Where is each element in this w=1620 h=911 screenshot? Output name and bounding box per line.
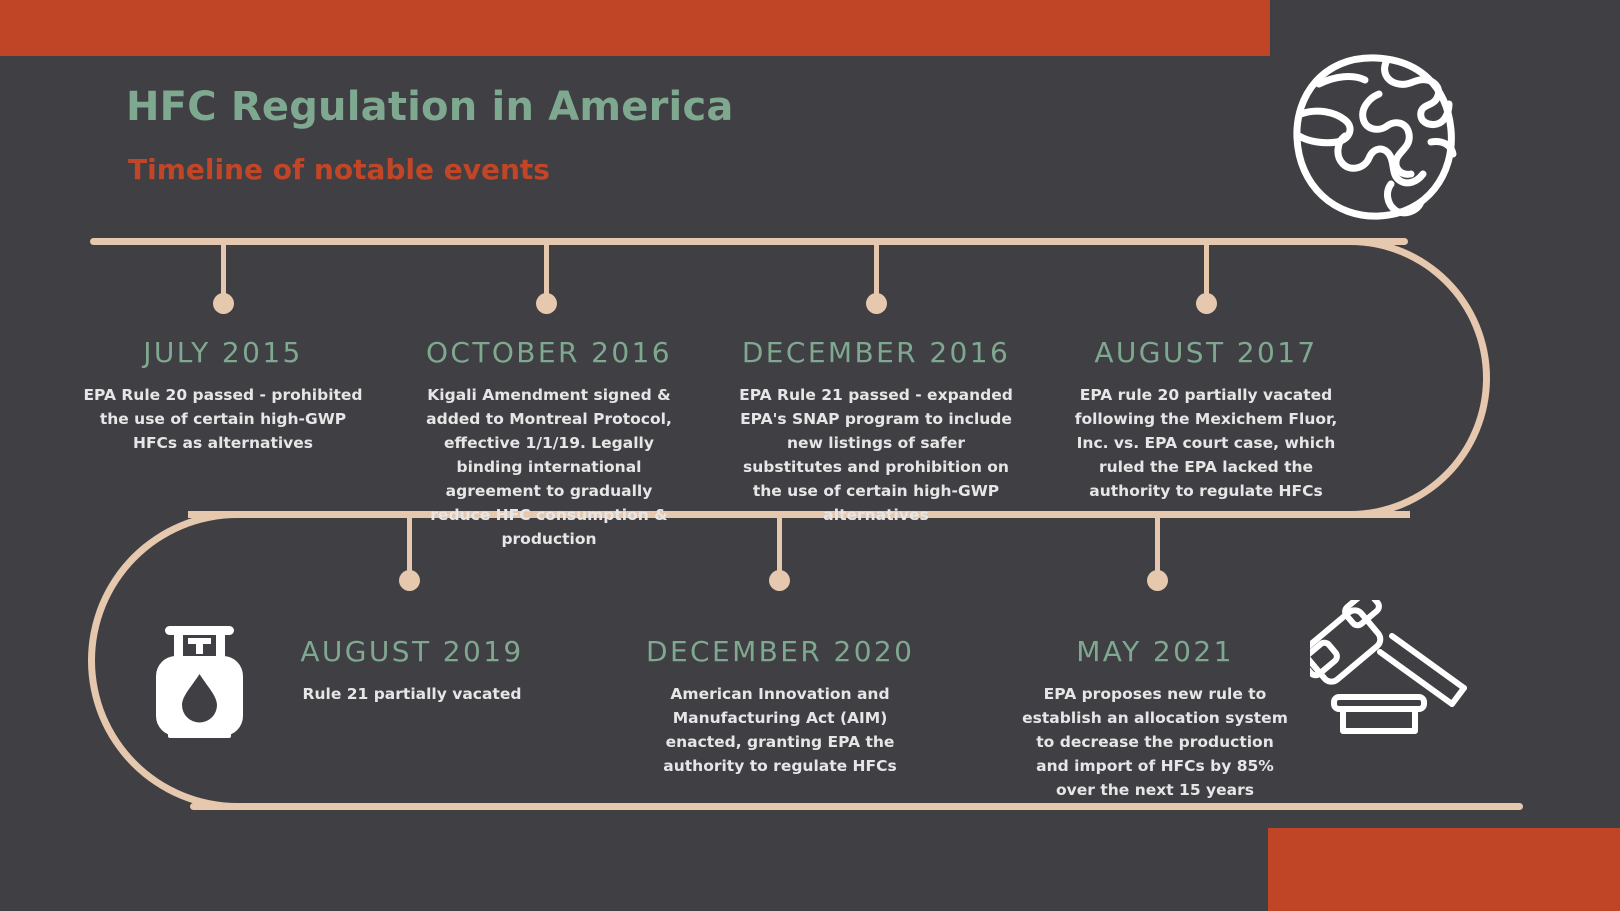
accent-bar-top: [0, 0, 1270, 56]
timeline-entry-december-2020: DECEMBER 2020 American Innovation and Ma…: [646, 635, 914, 778]
infographic-canvas: HFC Regulation in America Timeline of no…: [0, 0, 1620, 911]
timeline-stem-7: [1155, 515, 1160, 577]
timeline-dot-4: [1196, 293, 1217, 314]
gavel-icon: [1310, 600, 1485, 740]
page-title: HFC Regulation in America: [126, 84, 734, 130]
timeline-dot-5: [399, 570, 420, 591]
timeline-entry-text: EPA rule 20 partially vacated following …: [1068, 383, 1344, 503]
timeline-entry-date: OCTOBER 2016: [414, 336, 684, 369]
timeline-dot-2: [536, 293, 557, 314]
timeline-entry-date: MAY 2021: [1018, 635, 1292, 668]
timeline-dot-6: [769, 570, 790, 591]
timeline-entry-july-2015: JULY 2015 EPA Rule 20 passed - prohibite…: [76, 336, 370, 455]
accent-bar-bottom: [1268, 828, 1620, 911]
timeline-entry-text: EPA Rule 21 passed - expanded EPA's SNAP…: [736, 383, 1016, 527]
timeline-entry-may-2021: MAY 2021 EPA proposes new rule to establ…: [1018, 635, 1292, 802]
timeline-rail-curve-right: [1330, 238, 1490, 518]
timeline-entry-date: AUGUST 2017: [1068, 336, 1344, 369]
timeline-entry-date: DECEMBER 2020: [646, 635, 914, 668]
timeline-entry-date: DECEMBER 2016: [736, 336, 1016, 369]
globe-icon: [1283, 46, 1463, 226]
page-subtitle: Timeline of notable events: [128, 153, 550, 186]
timeline-entry-text: Kigali Amendment signed & added to Montr…: [414, 383, 684, 551]
timeline-entry-august-2019: AUGUST 2019 Rule 21 partially vacated: [276, 635, 548, 706]
timeline-entry-december-2016: DECEMBER 2016 EPA Rule 21 passed - expan…: [736, 336, 1016, 527]
timeline-entry-date: JULY 2015: [76, 336, 370, 369]
timeline-dot-7: [1147, 570, 1168, 591]
timeline-dot-1: [213, 293, 234, 314]
timeline-entry-october-2016: OCTOBER 2016 Kigali Amendment signed & a…: [414, 336, 684, 551]
timeline-entry-date: AUGUST 2019: [276, 635, 548, 668]
timeline-rail-bottom: [190, 803, 1523, 810]
timeline-entry-text: EPA proposes new rule to establish an al…: [1018, 682, 1292, 802]
gas-cylinder-icon: [152, 612, 247, 740]
timeline-entry-august-2017: AUGUST 2017 EPA rule 20 partially vacate…: [1068, 336, 1344, 503]
timeline-stem-5: [407, 515, 412, 577]
timeline-dot-3: [866, 293, 887, 314]
timeline-entry-text: Rule 21 partially vacated: [276, 682, 548, 706]
timeline-entry-text: EPA Rule 20 passed - prohibited the use …: [76, 383, 370, 455]
timeline-entry-text: American Innovation and Manufacturing Ac…: [646, 682, 914, 778]
timeline-rail-top: [90, 238, 1408, 245]
